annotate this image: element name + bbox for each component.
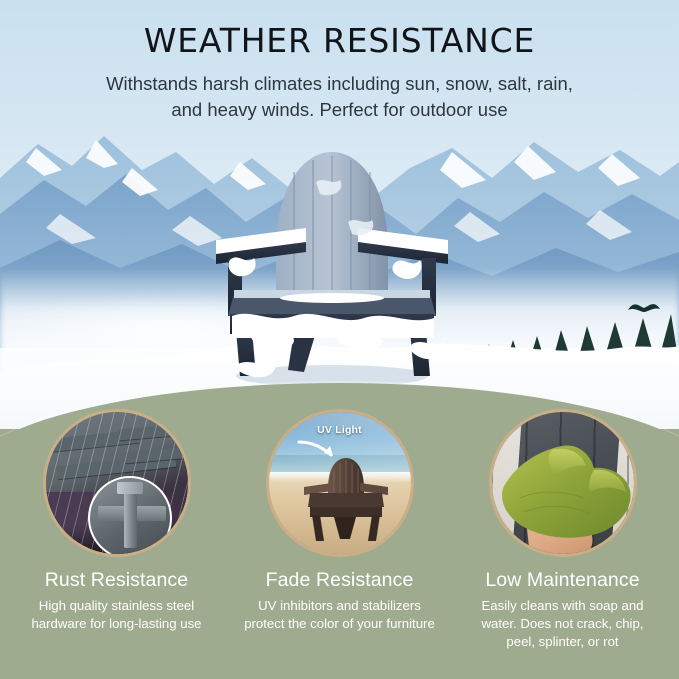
badge-low-maintenance: [489, 409, 637, 557]
feature-description: Easily cleans with soap and water. Does …: [460, 597, 665, 650]
stainless-bolt: [124, 486, 137, 548]
marketing-image: WEATHER RESISTANCE Withstands harsh clim…: [0, 0, 679, 679]
feature-list: Rust Resistance High quality stainless s…: [0, 409, 679, 679]
uv-light-annotation: UV Light: [269, 420, 411, 438]
bolt-head: [117, 482, 143, 494]
feature-description: High quality stainless steel hardware fo…: [14, 597, 219, 633]
bolt-zoom-inset: [88, 476, 172, 557]
badge-rust-resistance: [43, 409, 191, 557]
feature-title: Rust Resistance: [45, 569, 188, 592]
page-subtitle: Withstands harsh climates including sun,…: [0, 71, 679, 124]
feature-description: UV inhibitors and stabilizers protect th…: [237, 597, 442, 633]
hero-adirondack-chair: [198, 148, 466, 388]
uv-light-label: UV Light: [317, 424, 362, 436]
page-title: WEATHER RESISTANCE: [0, 24, 679, 59]
feature-rust-resistance: Rust Resistance High quality stainless s…: [14, 409, 219, 633]
microfiber-cloth: [498, 440, 634, 544]
header-block: WEATHER RESISTANCE Withstands harsh clim…: [0, 24, 679, 123]
badge-fade-resistance: UV Light: [266, 409, 414, 557]
feature-title: Low Maintenance: [485, 569, 639, 592]
feature-title: Fade Resistance: [266, 569, 414, 592]
bird-silhouette: [627, 296, 661, 318]
feature-fade-resistance: UV Light: [237, 409, 442, 633]
beach-chair: [300, 455, 392, 547]
feature-low-maintenance: Low Maintenance Easily cleans with soap …: [460, 409, 665, 650]
